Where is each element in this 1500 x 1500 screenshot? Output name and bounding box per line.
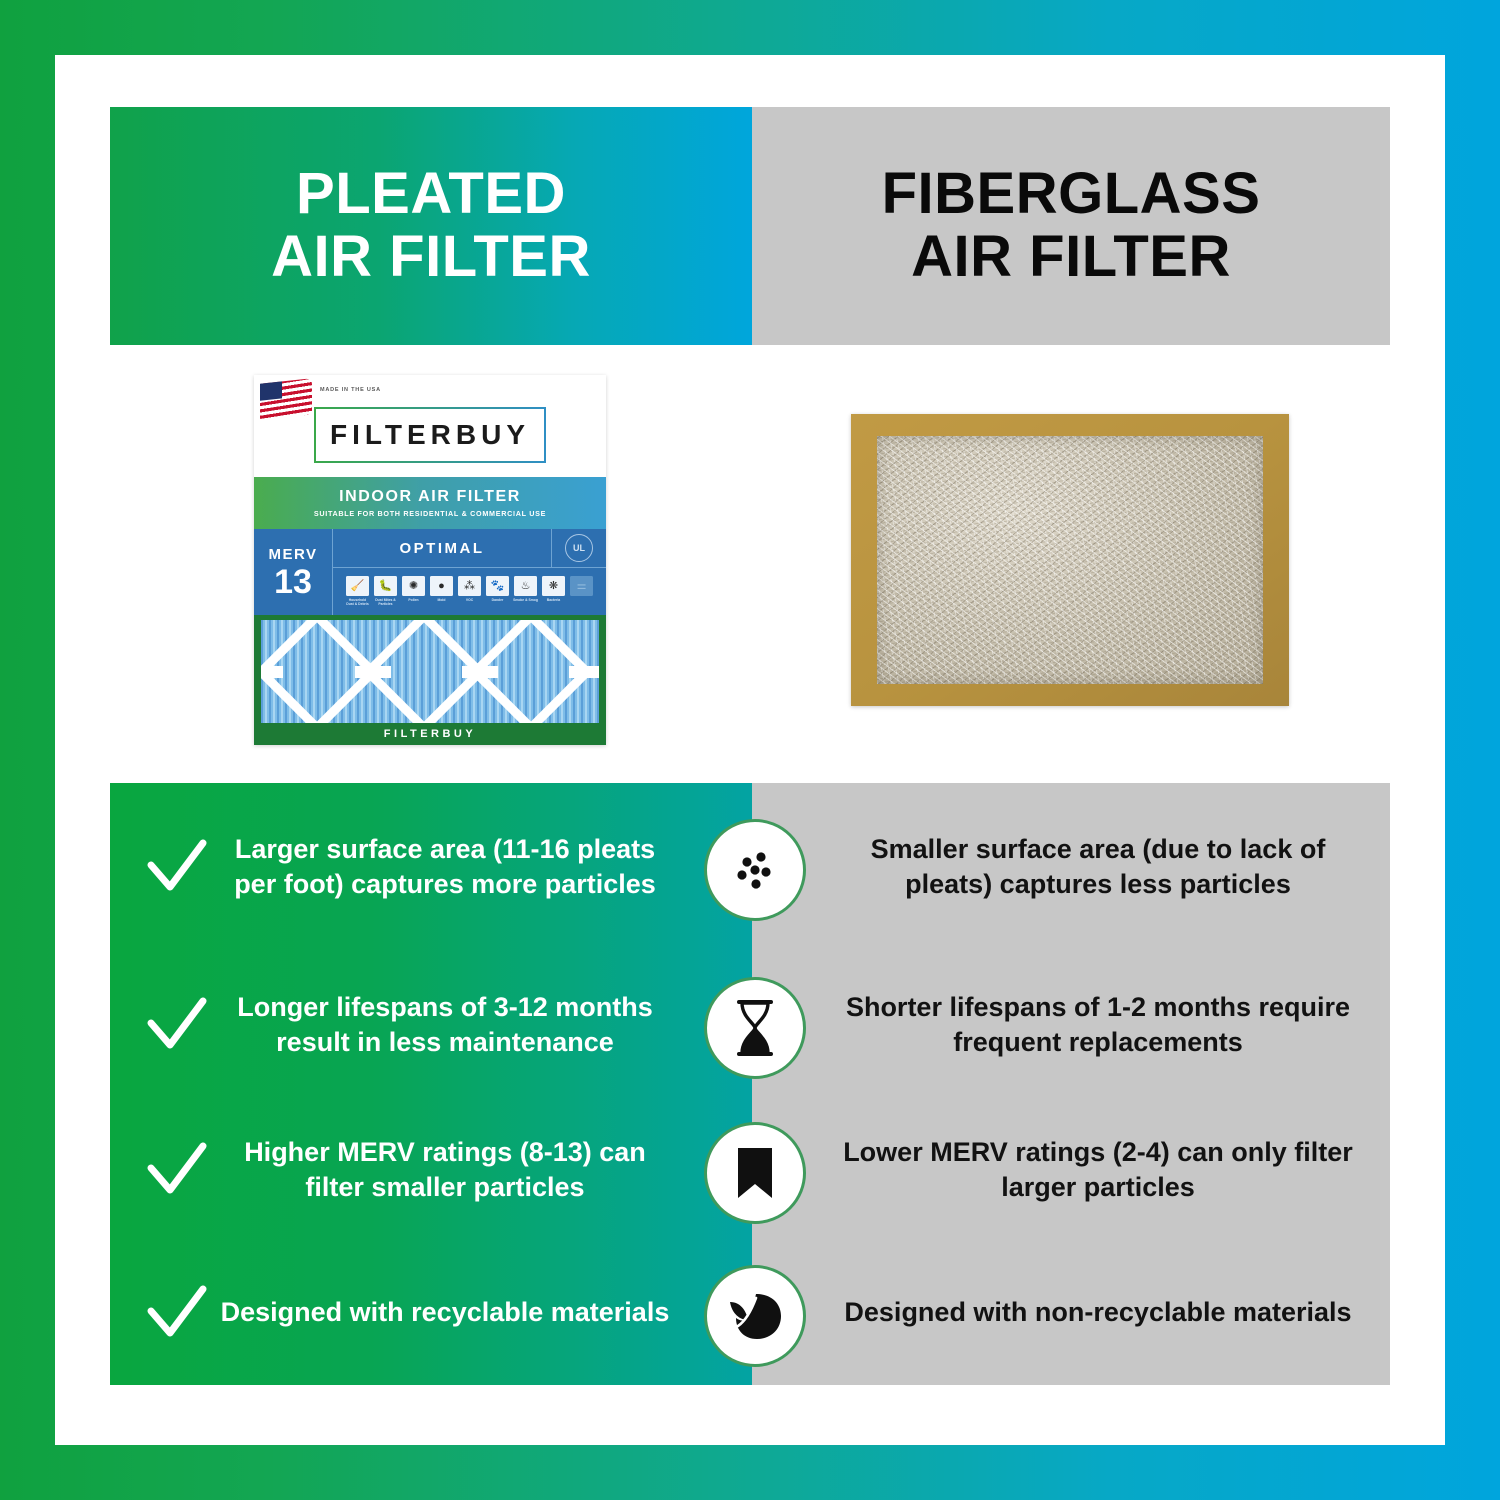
comparison-left-cell: Higher MERV ratings (8-13) can filter sm… (110, 1099, 752, 1241)
comparison-right-cell: Lower MERV ratings (2-4) can only filter… (752, 1099, 1390, 1241)
header-fiberglass-line1: FIBERGLASS (882, 161, 1261, 226)
comparison-right-text: Lower MERV ratings (2-4) can only filter… (830, 1135, 1366, 1205)
header-fiberglass: FIBERGLASS AIR FILTER (752, 107, 1390, 345)
made-in-usa-label: MADE IN THE USA (320, 386, 381, 394)
pleated-filter-package: MADE IN THE USA FILTERBUY INDOOR AIR FIL… (254, 375, 606, 745)
feature-tile-dander: 🐾 Dander (485, 576, 510, 608)
fiberglass-media (877, 436, 1263, 684)
paw-icon: 🐾 (486, 576, 509, 596)
comparison-right-cell: Smaller surface area (due to lack of ple… (752, 783, 1390, 951)
mold-icon: ● (430, 576, 453, 596)
comparison-right-text: Designed with non-recyclable materials (844, 1295, 1351, 1330)
bookmark-icon (704, 1122, 806, 1224)
pleated-filter-media: FILTERBUY (254, 615, 606, 745)
ul-certification-icon: UL (565, 534, 593, 562)
feature-caption: Bacteria (547, 598, 560, 602)
checkmark-icon (138, 1283, 216, 1343)
broom-icon: 🧹 (346, 576, 369, 596)
feature-caption: Dander (492, 598, 504, 602)
tier-row: OPTIMAL UL (333, 529, 606, 568)
feature-tile-disabled: ⚌ (569, 576, 594, 608)
feature-caption: Pollen (408, 598, 418, 602)
checkmark-icon (138, 995, 216, 1055)
pollen-icon: ✺ (402, 576, 425, 596)
comparison-left-text: Designed with recyclable materials (216, 1295, 752, 1330)
package-footer-brand: FILTERBUY (261, 723, 599, 745)
feature-tile-pollen: ✺ Pollen (401, 576, 426, 608)
comparison-left-cell: Designed with recyclable materials (110, 1241, 752, 1385)
fiberglass-product-cell (750, 345, 1390, 775)
feature-tile-bacteria: ❋ Bacteria (541, 576, 566, 608)
bacteria-icon: ❋ (542, 576, 565, 596)
feature-tile-dust-mite: 🐛 Dust Mites & Particles (373, 576, 398, 608)
feature-tile-broom: 🧹 Household Dust & Debris (345, 576, 370, 608)
comparison-right-text: Shorter lifespans of 1-2 months require … (830, 990, 1366, 1060)
header-fiberglass-title: FIBERGLASS AIR FILTER (882, 163, 1261, 288)
merv-rating-block: MERV 13 (254, 529, 333, 615)
tier-name: OPTIMAL (333, 529, 552, 567)
comparison-left-cell: Larger surface area (11-16 pleats per fo… (110, 783, 752, 951)
particles-icon (704, 819, 806, 921)
merv-value: 13 (274, 565, 312, 599)
feature-caption: Dust Mites & Particles (373, 598, 398, 607)
package-spec-right: OPTIMAL UL 🧹 Household Dust & Debris (333, 529, 606, 615)
feature-caption: Mold (438, 598, 446, 602)
disabled-icon: ⚌ (570, 576, 593, 596)
checkmark-icon (138, 1140, 216, 1200)
package-spec-band: MERV 13 OPTIMAL UL 🧹 (254, 529, 606, 615)
header-pleated-title: PLEATED AIR FILTER (271, 163, 591, 288)
us-flag-icon (260, 378, 312, 419)
comparison-section: Larger surface area (11-16 pleats per fo… (110, 783, 1390, 1385)
comparison-left-text: Longer lifespans of 3-12 months result i… (216, 990, 752, 1060)
header-row: PLEATED AIR FILTER FIBERGLASS AIR FILTER (110, 107, 1390, 345)
header-fiberglass-line2: AIR FILTER (911, 224, 1231, 289)
product-image-band: MADE IN THE USA FILTERBUY INDOOR AIR FIL… (110, 345, 1390, 775)
comparison-left-text: Higher MERV ratings (8-13) can filter sm… (216, 1135, 752, 1205)
header-pleated-line2: AIR FILTER (271, 224, 591, 289)
pleated-product-cell: MADE IN THE USA FILTERBUY INDOOR AIR FIL… (110, 345, 750, 775)
header-pleated-line1: PLEATED (296, 161, 566, 226)
pleat-area (261, 620, 599, 723)
smoke-icon: ♨ (514, 576, 537, 596)
comparison-right-text: Smaller surface area (due to lack of ple… (830, 832, 1366, 902)
brand-box: FILTERBUY (314, 407, 546, 463)
gradient-frame: PLEATED AIR FILTER FIBERGLASS AIR FILTER… (0, 0, 1500, 1500)
ul-badge: UL (552, 529, 606, 567)
package-subtitle-band: INDOOR AIR FILTER SUITABLE FOR BOTH RESI… (254, 477, 606, 529)
dust-mite-icon: 🐛 (374, 576, 397, 596)
feature-tile-smoke: ♨ Smoke & Smog (513, 576, 538, 608)
comparison-left-cell: Longer lifespans of 3-12 months result i… (110, 951, 752, 1099)
comparison-right-cell: Shorter lifespans of 1-2 months require … (752, 951, 1390, 1099)
merv-label: MERV (268, 546, 317, 563)
brand-name: FILTERBUY (330, 419, 530, 451)
hourglass-icon (704, 977, 806, 1079)
comparison-right-cell: Designed with non-recyclable materials (752, 1241, 1390, 1385)
comparison-left-text: Larger surface area (11-16 pleats per fo… (216, 832, 752, 902)
feature-icon-row: 🧹 Household Dust & Debris 🐛 Dust Mites &… (333, 568, 606, 615)
lattice-diamond (469, 620, 593, 723)
voc-icon: ⁂ (458, 576, 481, 596)
package-header: MADE IN THE USA FILTERBUY (254, 375, 606, 477)
feature-tile-mold: ● Mold (429, 576, 454, 608)
header-pleated: PLEATED AIR FILTER (110, 107, 752, 345)
package-subtitle: INDOOR AIR FILTER (339, 488, 521, 506)
feature-caption: VOC (466, 598, 473, 602)
leaf-icon (704, 1265, 806, 1367)
feature-caption: Smoke & Smog (513, 598, 538, 602)
feature-caption: Household Dust & Debris (345, 598, 370, 607)
feature-tile-voc: ⁂ VOC (457, 576, 482, 608)
fiberglass-filter-image (851, 414, 1289, 706)
checkmark-icon (138, 837, 216, 897)
package-subtitle-note: SUITABLE FOR BOTH RESIDENTIAL & COMMERCI… (314, 509, 546, 518)
